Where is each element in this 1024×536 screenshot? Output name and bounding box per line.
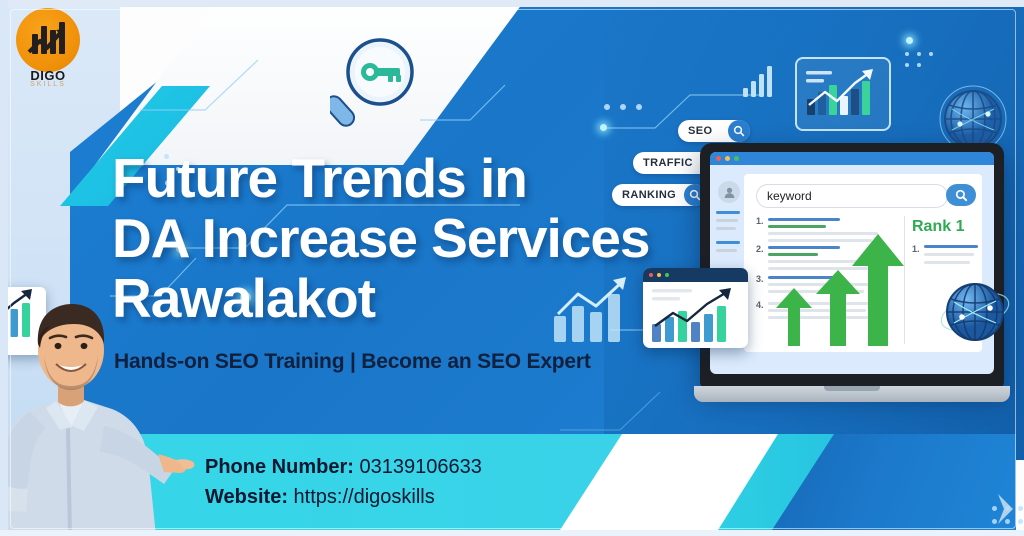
headline-line-2: DA Increase Services — [112, 208, 712, 268]
phone-value[interactable]: 03139106633 — [359, 456, 481, 478]
result-number: 1. — [756, 216, 764, 226]
presenter-photo — [0, 288, 203, 536]
result-number: 4. — [756, 300, 764, 310]
phone-label: Phone Number: — [205, 456, 354, 478]
left-edge-strip — [0, 0, 8, 536]
window-minimize-dot — [725, 156, 730, 161]
sidebar-line — [716, 219, 738, 222]
growth-arrow-large-icon — [846, 226, 916, 346]
result-bar — [768, 225, 826, 228]
analytics-chart-icon — [795, 57, 891, 131]
search-button[interactable] — [946, 184, 976, 206]
phone-row: Phone Number: 03139106633 — [205, 452, 482, 482]
search-icon[interactable] — [728, 120, 750, 142]
seo-marketing-banner: DIGO SKILLS — [0, 0, 1024, 536]
laptop-notch — [824, 386, 880, 391]
sidebar-line — [716, 211, 740, 214]
magnifier-key-icon — [330, 36, 414, 136]
window-close-dot — [716, 156, 721, 161]
rank-result-number: 1. — [912, 244, 920, 254]
search-input[interactable]: keyword — [756, 184, 948, 208]
website-row: Website: https://digoskills — [205, 482, 482, 512]
globe-icon — [938, 275, 1012, 349]
rank-label: Rank 1 — [912, 218, 964, 236]
result-bar — [768, 218, 840, 221]
website-value[interactable]: https://digoskills — [294, 486, 435, 508]
search-input-value: keyword — [757, 189, 812, 203]
badge-seo[interactable]: SEO — [678, 120, 750, 142]
brand-logo[interactable]: DIGO SKILLS — [8, 6, 88, 90]
sidebar-line — [716, 227, 736, 230]
rank-result-bar — [924, 245, 978, 248]
badge-label: SEO — [688, 125, 720, 137]
signal-bars-icon — [742, 62, 778, 98]
top-edge-strip — [0, 0, 1024, 7]
result-bar — [768, 246, 840, 249]
result-bar — [768, 253, 818, 256]
sidebar-line — [716, 241, 740, 244]
sidebar-line — [716, 249, 737, 252]
avatar — [718, 181, 740, 203]
bottom-edge-strip — [0, 530, 1024, 536]
browser-titlebar — [710, 152, 994, 165]
result-number: 2. — [756, 244, 764, 254]
headline-line-1: Future Trends in — [112, 148, 712, 208]
logo-subtext: SKILLS — [8, 81, 88, 88]
result-number: 3. — [756, 274, 764, 284]
laptop-body: keyword 1. 2. — [700, 143, 1004, 388]
rank-result-bar — [924, 261, 970, 264]
window-maximize-dot — [734, 156, 739, 161]
corner-chevron-icon — [980, 492, 1014, 526]
rank-result-bar — [924, 253, 974, 256]
website-label: Website: — [205, 486, 288, 508]
contact-info: Phone Number: 03139106633 Website: https… — [205, 452, 482, 512]
